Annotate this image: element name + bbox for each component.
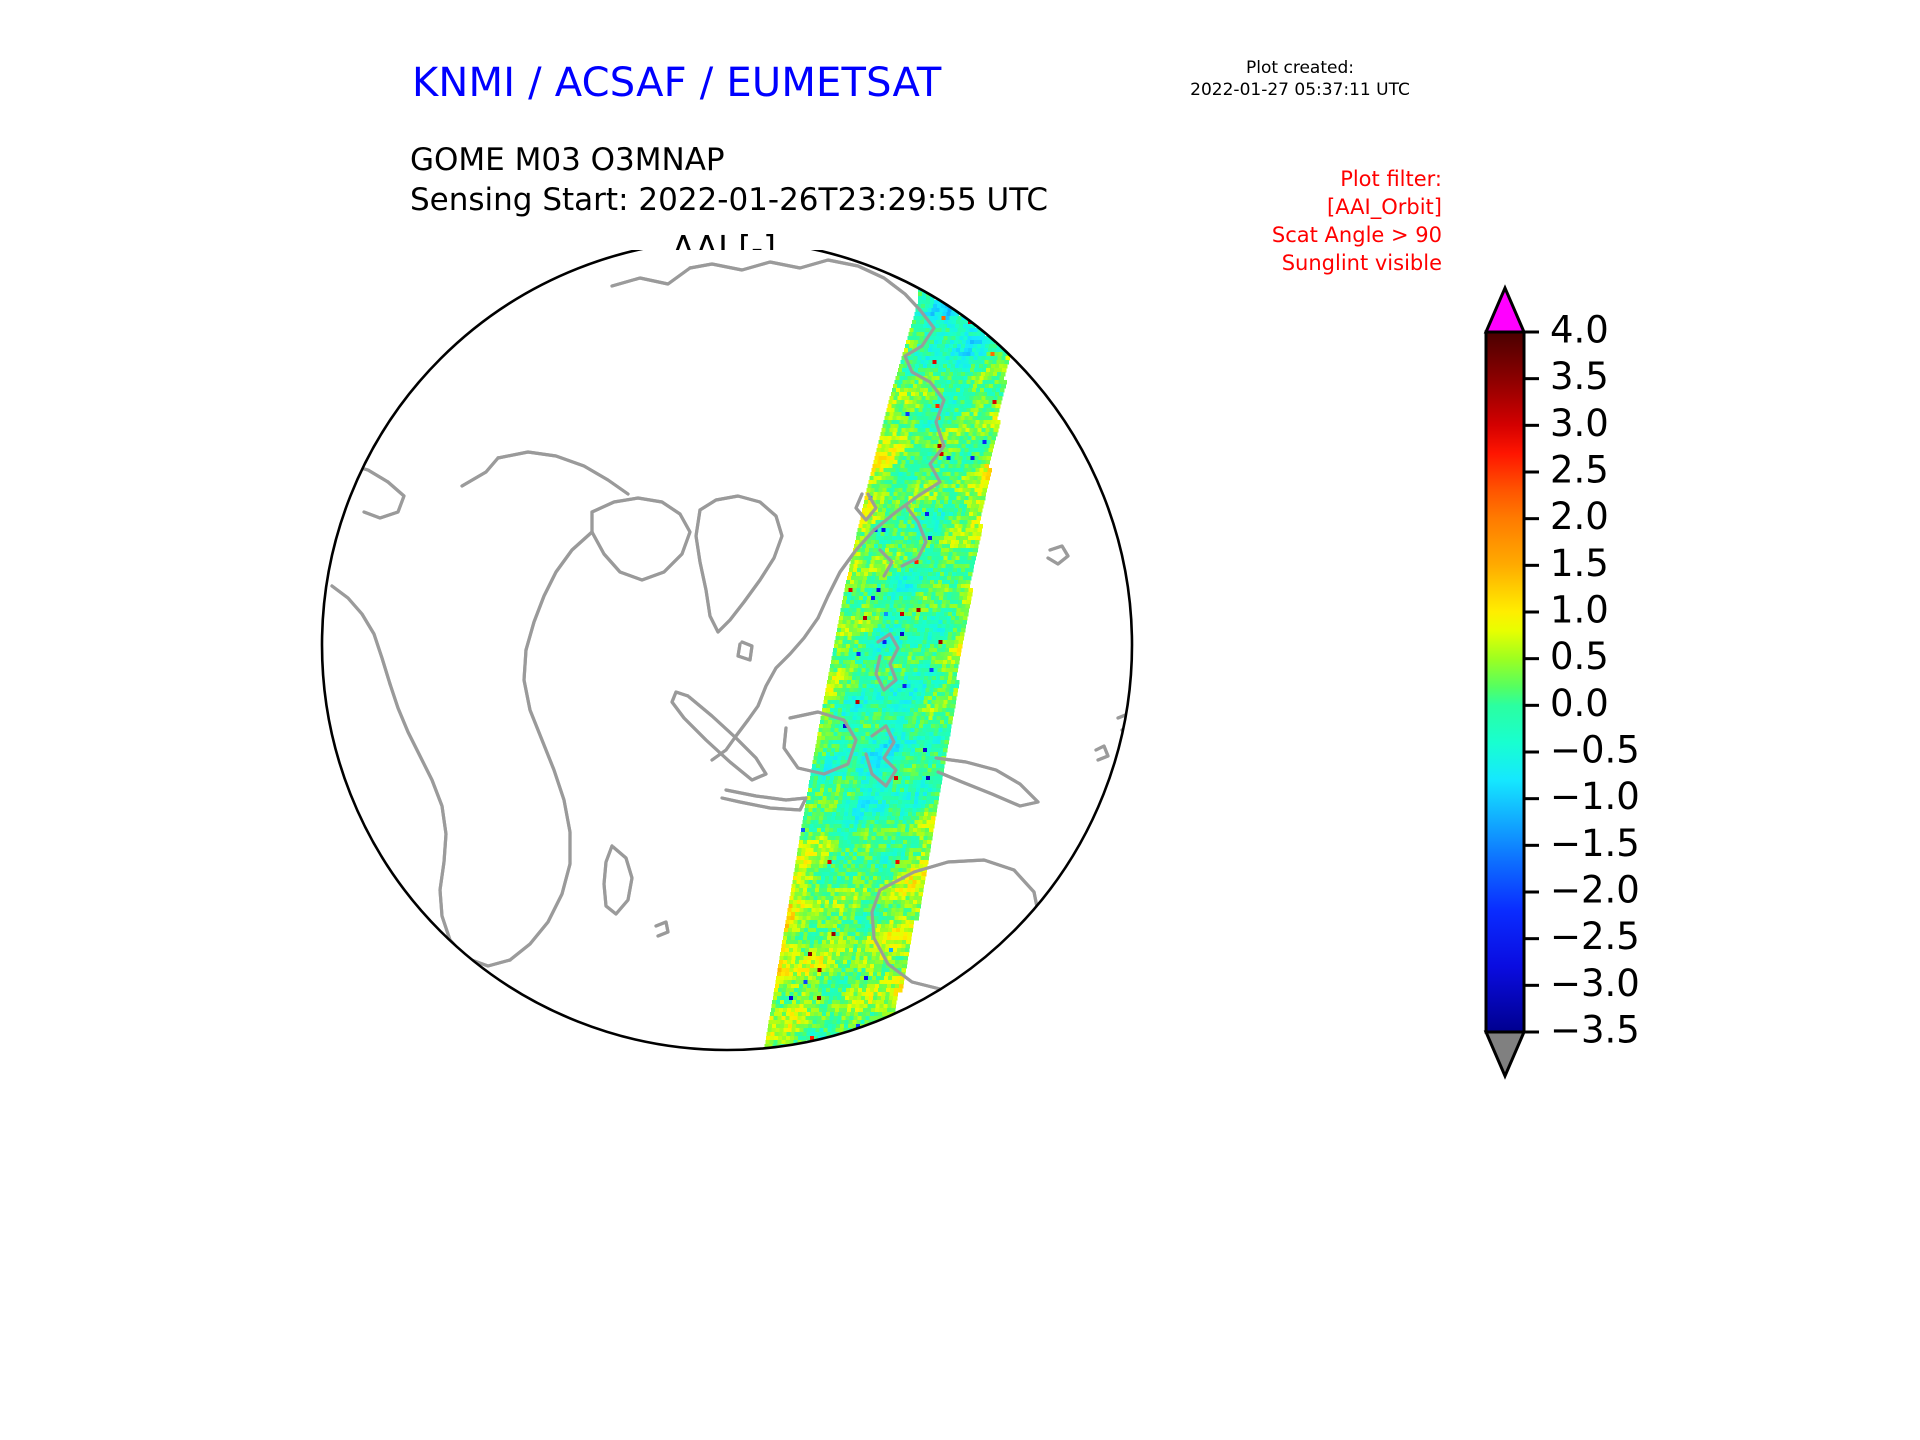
colorbar-tick-label: −3.5 <box>1550 1009 1640 1052</box>
colorbar-tick-label: −1.0 <box>1550 775 1640 818</box>
colorbar-tick-label: 1.0 <box>1550 589 1609 632</box>
colorbar-tick-label: −1.5 <box>1550 822 1640 865</box>
coastline-segment <box>1110 1010 1124 1042</box>
colorbar-over-range-arrow <box>1486 288 1524 332</box>
colorbar[interactable]: 4.03.53.02.52.01.51.00.50.0−0.5−1.0−1.5−… <box>1448 282 1748 1092</box>
plot-created-block: Plot created: 2022-01-27 05:37:11 UTC <box>1140 58 1460 102</box>
globe-disc <box>322 250 1132 1050</box>
coastline-segment <box>1110 1010 1124 1042</box>
dataset-block: GOME M03 O3MNAP Sensing Start: 2022-01-2… <box>410 140 1048 221</box>
colorbar-tick-label: 1.5 <box>1550 542 1609 585</box>
colorbar-tick-label: 3.5 <box>1550 355 1609 398</box>
colorbar-gradient-bar[interactable] <box>1486 332 1524 1032</box>
colorbar-tick-label: −0.5 <box>1550 729 1640 772</box>
colorbar-tick-label: 0.5 <box>1550 635 1609 678</box>
filter-line-orbit: [AAI_Orbit] <box>1180 194 1442 222</box>
filter-line-title: Plot filter: <box>1180 166 1442 194</box>
plot-created-label: Plot created: <box>1140 58 1460 80</box>
organisation-title: KNMI / ACSAF / EUMETSAT <box>412 60 942 106</box>
colorbar-tick-label: 2.5 <box>1550 449 1609 492</box>
colorbar-tick-label: −2.5 <box>1550 915 1640 958</box>
colorbar-tick-label: 2.0 <box>1550 495 1609 538</box>
colorbar-under-range-arrow <box>1486 1032 1524 1076</box>
colorbar-tick-label: 3.0 <box>1550 402 1609 445</box>
dataset-name: GOME M03 O3MNAP <box>410 140 1048 180</box>
colorbar-tick-label: 4.0 <box>1550 309 1609 352</box>
colorbar-panel[interactable]: 4.03.53.02.52.01.51.00.50.0−0.5−1.0−1.5−… <box>1448 282 1748 1092</box>
colorbar-tick-label: −2.0 <box>1550 869 1640 912</box>
globe-map <box>0 250 1448 1390</box>
colorbar-tick-label: −3.0 <box>1550 962 1640 1005</box>
plot-created-timestamp: 2022-01-27 05:37:11 UTC <box>1140 80 1460 102</box>
colorbar-tick-label: 0.0 <box>1550 682 1609 725</box>
globe-map-panel <box>0 250 1448 1390</box>
sensing-start: Sensing Start: 2022-01-26T23:29:55 UTC <box>410 180 1048 220</box>
filter-line-scat-angle: Scat Angle > 90 <box>1180 222 1442 250</box>
colorbar-ticks: 4.03.53.02.52.01.51.00.50.0−0.5−1.0−1.5−… <box>1524 309 1640 1052</box>
